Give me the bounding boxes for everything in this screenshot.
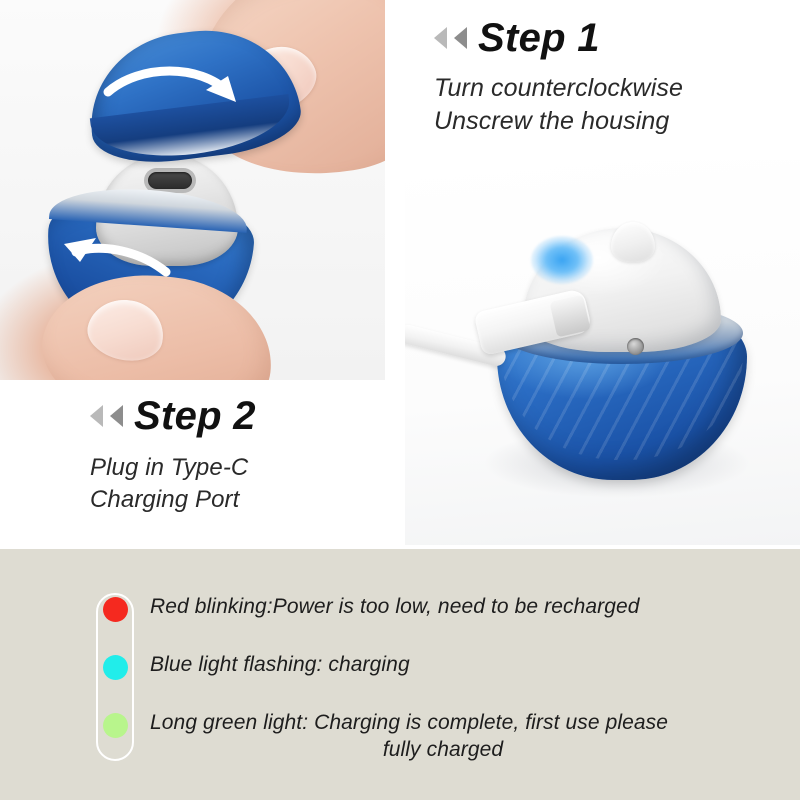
step-2-heading: Step 2 <box>90 396 410 436</box>
legend-row-red: Red blinking:Power is too low, need to b… <box>96 593 736 643</box>
green-led-dot-wrap <box>96 709 134 738</box>
photo-unscrew-housing <box>0 0 385 380</box>
step-1-block: Step 1 Turn counterclockwise Unscrew the… <box>434 18 774 138</box>
legend-row-green: Long green light: Charging is complete, … <box>96 709 736 764</box>
left-triangle-icon-inner <box>454 27 467 49</box>
led-status-legend-panel: Red blinking:Power is too low, need to b… <box>0 549 800 800</box>
legend-text-blue: Blue light flashing: charging <box>150 651 410 678</box>
left-triangle-icon-outer <box>434 27 447 49</box>
rotation-arrows-overlay <box>0 0 385 380</box>
red-led-dot-wrap <box>96 593 134 622</box>
green-led-dot <box>103 713 128 738</box>
clockwise-arrow-icon <box>108 71 236 102</box>
legend-text-green-line2: fully charged <box>150 736 736 763</box>
legend-row-blue: Blue light flashing: charging <box>96 651 736 701</box>
counterclockwise-arrow-icon <box>64 238 166 272</box>
photo-charging-port <box>405 160 800 545</box>
legend-text-green-line1: Long green light: Charging is complete, … <box>150 711 668 734</box>
left-triangle-icon-inner <box>110 405 123 427</box>
blue-led-glow <box>531 236 593 284</box>
step-1-title: Step 1 <box>478 18 600 58</box>
red-led-dot <box>103 597 128 622</box>
instruction-sheet: Step 1 Turn counterclockwise Unscrew the… <box>0 0 800 800</box>
left-triangle-icon-outer <box>90 405 103 427</box>
step-2-block: Step 2 Plug in Type-C Charging Port <box>90 396 410 515</box>
blue-led-dot <box>103 655 128 680</box>
step-1-description: Turn counterclockwise Unscrew the housin… <box>434 72 774 138</box>
step-2-description: Plug in Type-C Charging Port <box>90 452 410 515</box>
legend-text-red: Red blinking:Power is too low, need to b… <box>150 593 640 620</box>
dome-screw <box>627 338 644 355</box>
step-1-heading: Step 1 <box>434 18 774 58</box>
legend-list: Red blinking:Power is too low, need to b… <box>96 593 736 772</box>
step-2-title: Step 2 <box>134 396 256 436</box>
legend-text-green: Long green light: Charging is complete, … <box>150 709 736 764</box>
blue-led-dot-wrap <box>96 651 134 680</box>
